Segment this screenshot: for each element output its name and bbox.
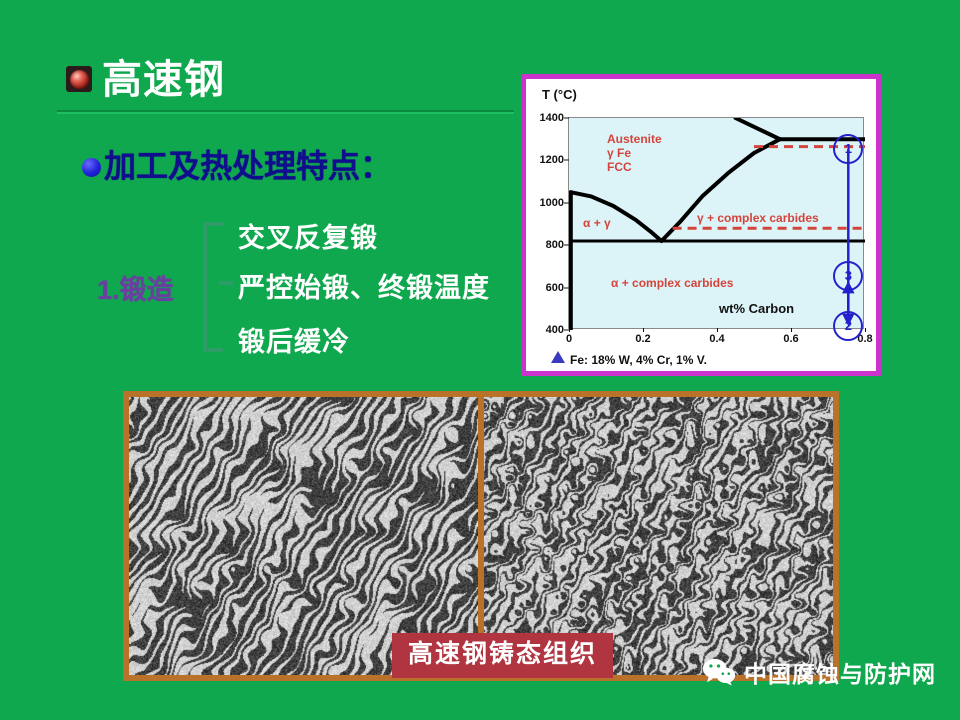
chart-x-axis-title: wt% Carbon	[719, 301, 794, 316]
chart-footnote: Fe: 18% W, 4% Cr, 1% V.	[570, 353, 707, 367]
region-label-austenite: Austenite γ Fe FCC	[607, 132, 662, 174]
chart-x-tick-mark	[717, 328, 718, 332]
region-label-line: γ Fe	[607, 146, 662, 160]
chart-x-tick-label: 0.2	[635, 333, 650, 345]
chart-y-tick-label: 800	[546, 239, 564, 251]
region-label-line: Austenite	[607, 132, 662, 146]
chart-y-tick-mark	[564, 245, 569, 246]
chart-marker-1: 1	[833, 134, 863, 164]
chart-y-tick-mark	[564, 287, 569, 288]
forging-item: 交叉反复锻	[238, 221, 378, 255]
chart-x-tick-mark	[865, 328, 866, 332]
watermark-text: 中国腐蚀与防护网	[744, 655, 936, 689]
forging-item: 锻后缓冷	[238, 325, 350, 359]
slide-canvas: 高速钢 加工及热处理特点： 1.锻造 交叉反复锻 严控始锻、终锻温度 锻后缓冷 …	[0, 0, 960, 720]
chart-y-tick-label: 400	[546, 324, 564, 336]
region-label-alpha-complex-carbides: α + complex carbides	[611, 276, 733, 290]
chart-marker-2: 2	[833, 311, 863, 341]
micrograph-caption: 高速钢铸态组织	[392, 633, 613, 678]
chart-x-tick-label: 0.6	[783, 333, 798, 345]
chart-y-tick-label: 1400	[540, 112, 564, 124]
chart-x-tick-mark	[791, 328, 792, 332]
chart-x-tick-mark	[643, 328, 644, 332]
chart-y-tick-mark	[564, 202, 569, 203]
chart-x-tick-label: 0.4	[709, 333, 724, 345]
chart-x-tick-mark	[569, 328, 570, 332]
region-label-line: FCC	[607, 160, 662, 174]
section-heading: 加工及热处理特点：	[104, 144, 392, 188]
page-title: 高速钢	[102, 56, 225, 104]
chart-curve-liquidus	[736, 118, 780, 139]
forging-item: 严控始锻、终锻温度	[238, 271, 490, 305]
wechat-icon	[702, 658, 736, 686]
chart-y-tick-label: 1000	[540, 197, 564, 209]
region-label-alpha-gamma: α + γ	[583, 216, 611, 230]
blue-dot-icon	[82, 158, 101, 177]
red-orb-icon	[66, 66, 92, 92]
chart-marker-3: 3	[833, 261, 863, 291]
title-divider	[57, 110, 514, 114]
region-label-gamma-complex-carbides: γ + complex carbides	[697, 211, 819, 225]
chart-curve-gamma-carbide-solvus	[662, 139, 780, 241]
chart-x-tick-label: 0	[566, 333, 572, 345]
chart-y-tick-mark	[564, 118, 569, 119]
chart-y-tick-label: 600	[546, 282, 564, 294]
forging-bracket-stem	[219, 281, 233, 285]
forging-label: 1.锻造	[97, 268, 174, 307]
watermark: 中国腐蚀与防护网	[702, 655, 936, 689]
phase-diagram-panel: T (°C) Austenite γ Fe FCC α + γ γ + comp…	[521, 74, 881, 376]
chart-y-axis-title: T (°C)	[542, 87, 577, 102]
chart-y-tick-mark	[564, 160, 569, 161]
chart-plot-area: Austenite γ Fe FCC α + γ γ + complex car…	[568, 117, 864, 329]
chart-y-tick-label: 1200	[540, 154, 564, 166]
red-orb-inner	[70, 70, 89, 89]
forging-bracket	[203, 222, 223, 352]
blue-triangle-icon	[551, 351, 565, 363]
